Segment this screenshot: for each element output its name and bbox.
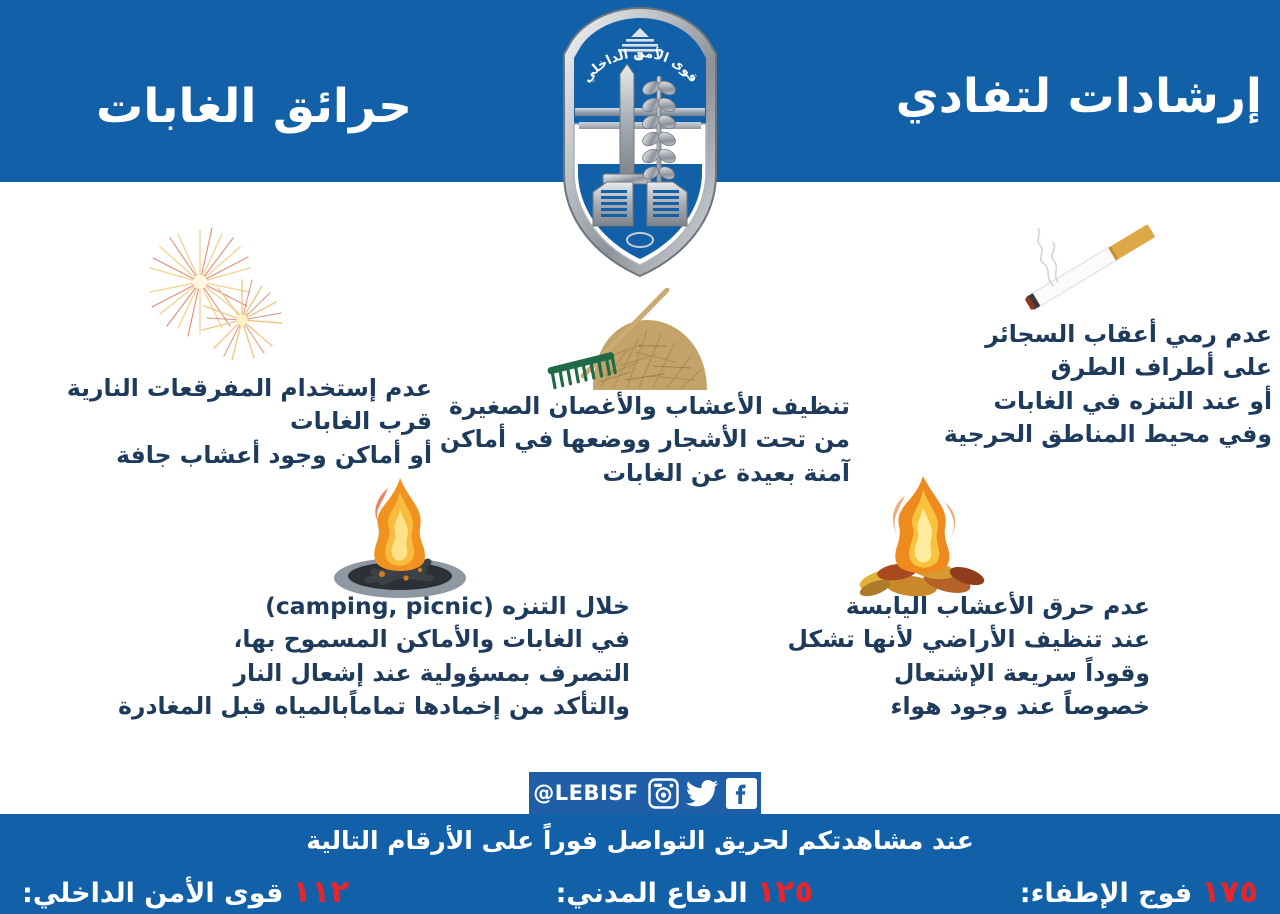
tip-line: عدم إستخدام المفرقعات النارية bbox=[2, 372, 432, 405]
lit-cigarette-icon bbox=[1008, 212, 1173, 324]
facebook-icon[interactable] bbox=[726, 778, 757, 809]
footer-band: عند مشاهدتكم لحريق التواصل فوراً على الأ… bbox=[0, 814, 1280, 914]
tip-line: قرب الغابات bbox=[2, 405, 432, 438]
tip-burning-leaves-text: عدم حرق الأعشاب اليابسة عند تنظيف الأراض… bbox=[740, 590, 1150, 723]
burning-leaves-icon bbox=[835, 462, 1010, 602]
twitter-icon[interactable] bbox=[686, 778, 719, 809]
tip-line: عدم حرق الأعشاب اليابسة bbox=[740, 590, 1150, 623]
contact-fire-brigade: ١٧٥ فوج الإطفاء: bbox=[1020, 874, 1258, 910]
tip-campfire-text: خلال التنزه (camping, picnic) في الغابات… bbox=[130, 590, 630, 723]
tip-line: على أطراف الطرق bbox=[900, 351, 1272, 384]
tip-line: في الغابات والأماكن المسموح بها، bbox=[130, 623, 630, 656]
hay-pile-rake-icon bbox=[535, 288, 755, 398]
contact-civil-defense: ١٢٥ الدفاع المدني: bbox=[556, 874, 814, 910]
tip-line: تنظيف الأعشاب والأغصان الصغيرة bbox=[430, 390, 850, 423]
tip-line: التصرف بمسؤولية عند إشعال النار bbox=[130, 657, 630, 690]
contact-number: ١٧٥ bbox=[1201, 874, 1258, 910]
infographic-poster: إرشادات لتفادي حرائق الغابات bbox=[0, 0, 1280, 914]
footer-note: عند مشاهدتكم لحريق التواصل فوراً على الأ… bbox=[0, 826, 1280, 855]
instagram-icon[interactable] bbox=[648, 778, 679, 809]
tip-line: وفي محيط المناطق الحرجية bbox=[900, 418, 1272, 451]
tip-line: عند تنظيف الأراضي لأنها تشكل bbox=[740, 623, 1150, 656]
contact-number: ١٢٥ bbox=[757, 874, 814, 910]
isf-emblem-icon: قوى الأمن الداخلي bbox=[545, 4, 735, 282]
contact-label: قوى الأمن الداخلي: bbox=[22, 878, 283, 909]
contact-isf: ١١٢ قوى الأمن الداخلي: bbox=[22, 874, 349, 910]
social-bar: @LEBISF bbox=[529, 772, 761, 814]
social-handle[interactable]: @LEBISF bbox=[533, 781, 639, 805]
footer-contacts: ١٧٥ فوج الإطفاء: ١٢٥ الدفاع المدني: ١١٢ … bbox=[0, 874, 1280, 910]
fireworks-icon bbox=[130, 220, 315, 375]
tip-fireworks-text: عدم إستخدام المفرقعات النارية قرب الغابا… bbox=[2, 372, 432, 472]
tip-line: أو عند التنزه في الغابات bbox=[900, 385, 1272, 418]
tip-line: عدم رمي أعقاب السجائر bbox=[900, 318, 1272, 351]
tip-line: وقوداً سريعة الإشتعال bbox=[740, 657, 1150, 690]
tip-line: آمنة بعيدة عن الغابات bbox=[430, 457, 850, 490]
tip-line: خصوصاً عند وجود هواء bbox=[740, 690, 1150, 723]
tip-line: من تحت الأشجار ووضعها في أماكن bbox=[430, 423, 850, 456]
campfire-icon bbox=[312, 462, 487, 602]
contact-label: الدفاع المدني: bbox=[556, 878, 748, 909]
contact-label: فوج الإطفاء: bbox=[1020, 878, 1192, 909]
tip-line: والتأكد من إخمادها تماماًبالمياه قبل الم… bbox=[130, 690, 630, 723]
tip-hay-rake-text: تنظيف الأعشاب والأغصان الصغيرة من تحت ال… bbox=[430, 390, 850, 490]
tip-cigarette-text: عدم رمي أعقاب السجائر على أطراف الطرق أو… bbox=[900, 318, 1272, 451]
contact-number: ١١٢ bbox=[292, 874, 349, 910]
tip-line: خلال التنزه (camping, picnic) bbox=[130, 590, 630, 623]
